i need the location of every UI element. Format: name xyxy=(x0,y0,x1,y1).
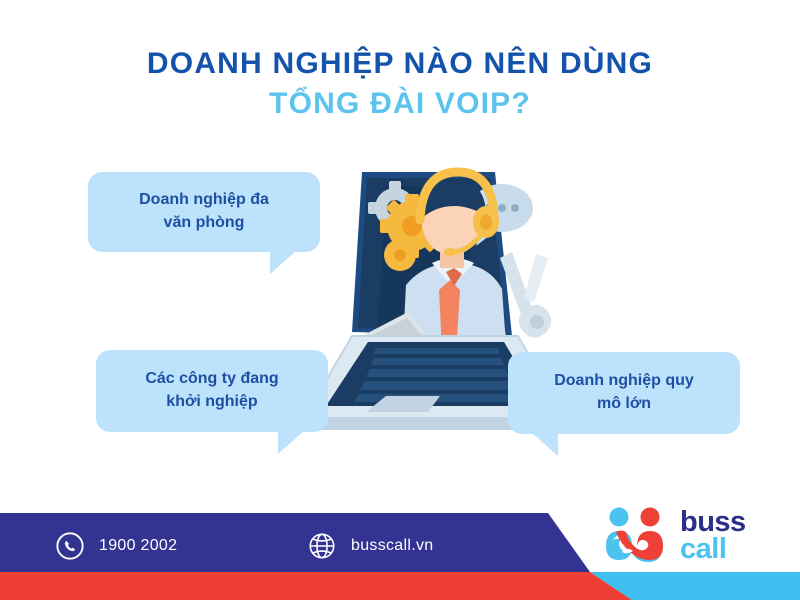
footer-website-item[interactable]: busscall.vn xyxy=(307,531,433,561)
title-line-1: DOANH NGHIỆP NÀO NÊN DÙNG xyxy=(0,44,800,84)
bubble-startups-text: Các công ty đang khởi nghiệp xyxy=(129,368,294,413)
footer-red-strip xyxy=(0,572,632,600)
title-block: DOANH NGHIỆP NÀO NÊN DÙNG TỔNG ĐÀI VOIP? xyxy=(0,44,800,123)
busscall-logo[interactable]: buss call xyxy=(598,505,768,567)
footer-phone-number: 1900 2002 xyxy=(99,538,177,554)
title-line-2: TỔNG ĐÀI VOIP? xyxy=(0,84,800,124)
bubble-large-enterprise[interactable]: Doanh nghiệp quy mô lớn xyxy=(508,352,740,434)
bubble-startups[interactable]: Các công ty đang khởi nghiệp xyxy=(96,350,328,432)
bubble-multi-office-text: Doanh nghiệp đa văn phòng xyxy=(123,189,285,234)
infographic-canvas: DOANH NGHIỆP NÀO NÊN DÙNG TỔNG ĐÀI VOIP? xyxy=(0,0,800,600)
two-people-infinity-icon xyxy=(598,506,672,567)
logo-word-call: call xyxy=(680,536,746,563)
footer-website: busscall.vn xyxy=(351,538,433,554)
logo-word-buss: buss xyxy=(680,509,746,536)
bubble-tail-icon xyxy=(278,431,304,454)
phone-circle-icon xyxy=(55,531,85,561)
footer-phone-item[interactable]: 1900 2002 xyxy=(55,531,177,561)
bubble-multi-office[interactable]: Doanh nghiệp đa văn phòng xyxy=(88,172,320,252)
bubble-large-enterprise-text: Doanh nghiệp quy mô lớn xyxy=(538,370,710,415)
globe-icon xyxy=(307,531,337,561)
logo-wordmark: buss call xyxy=(680,509,746,562)
bubble-tail-icon xyxy=(270,251,296,274)
bubble-tail-icon xyxy=(532,433,558,456)
